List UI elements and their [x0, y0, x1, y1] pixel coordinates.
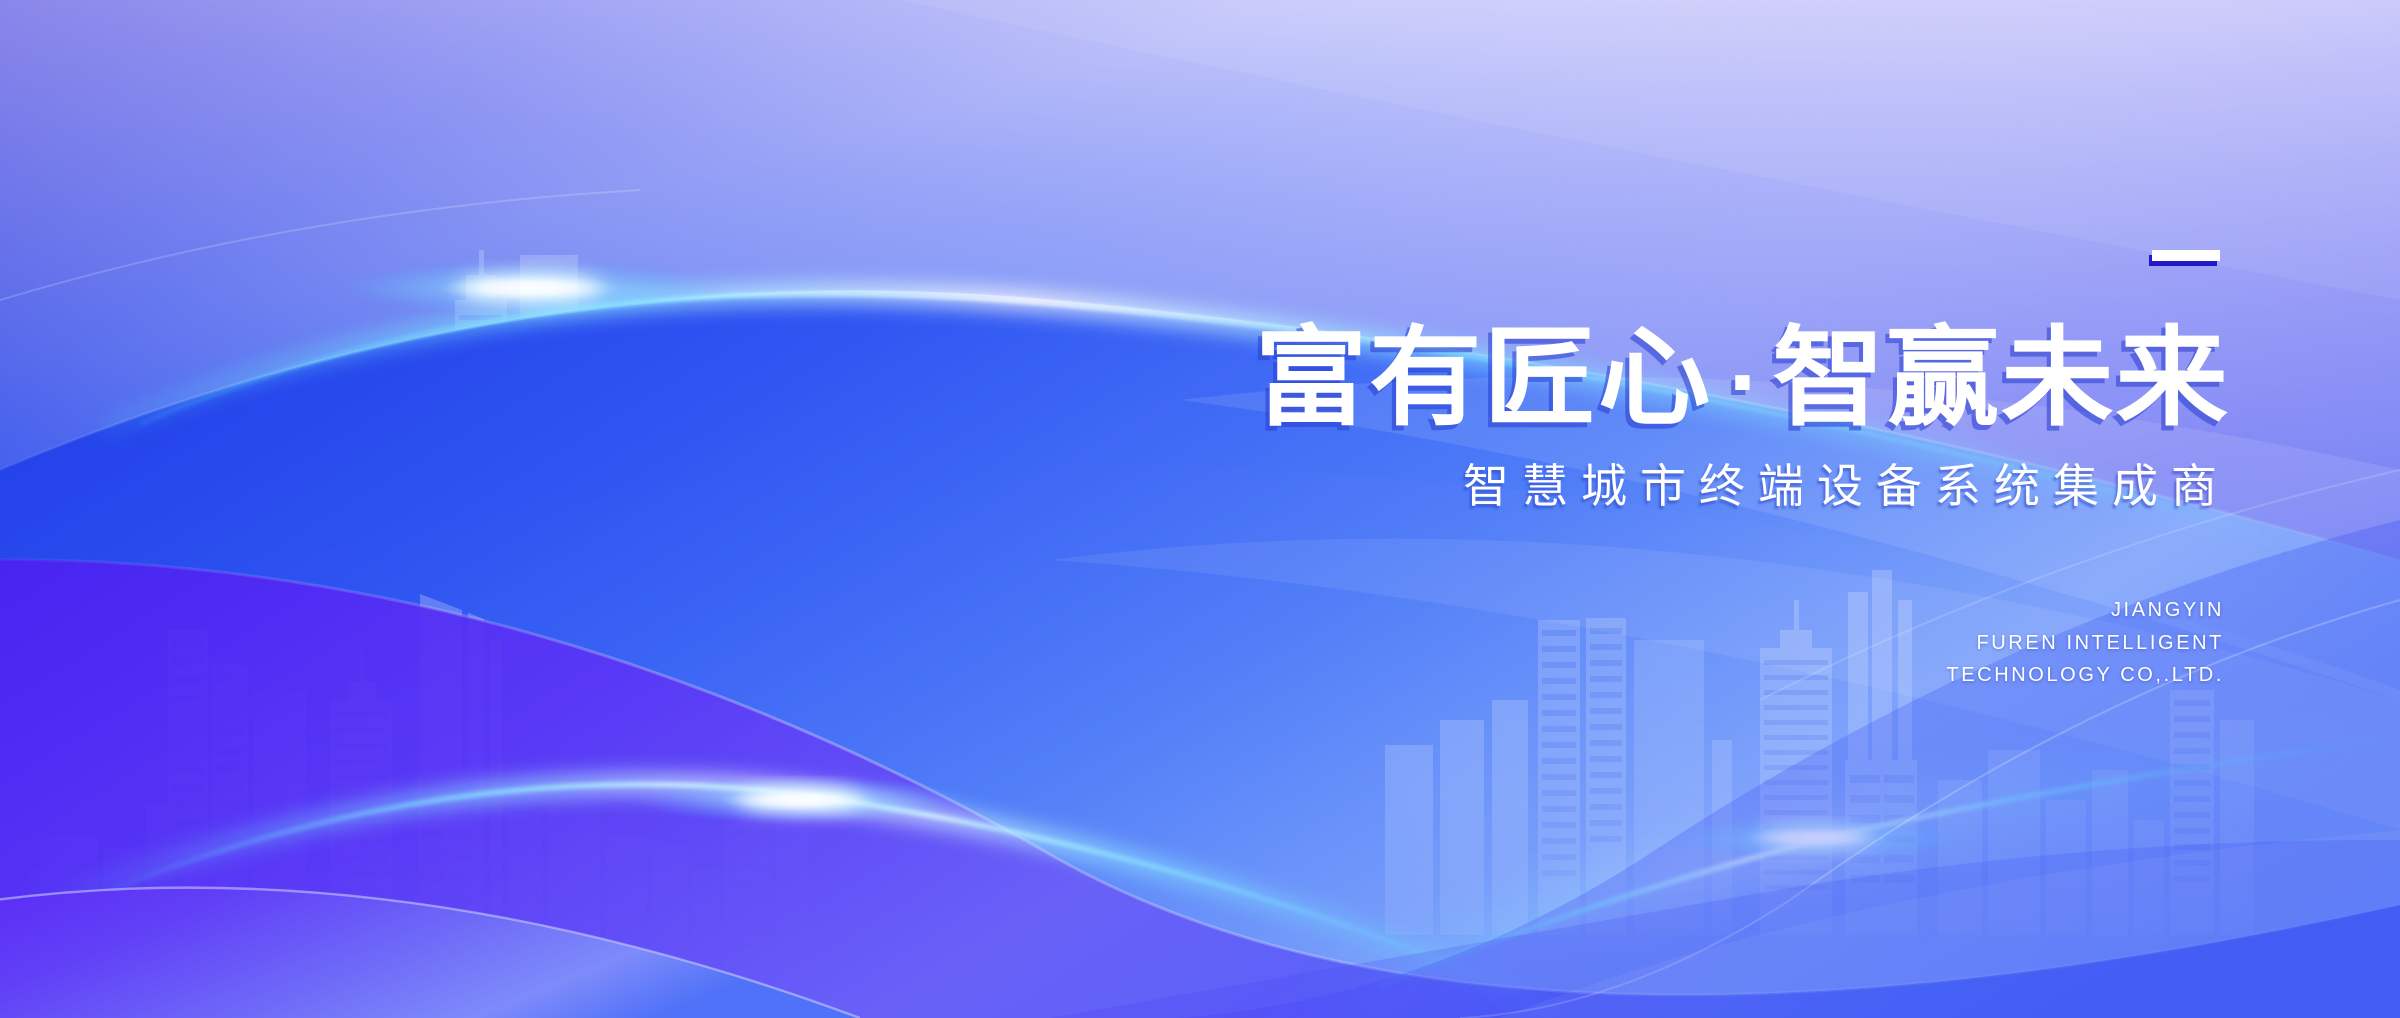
company-line-suffix: TECHNOLOGY CO,.LTD.	[1050, 659, 2224, 691]
headline-group: 富有匠心·智赢未来 智慧城市终端设备系统集成商 JIANGYIN FUREN I…	[1050, 250, 2230, 691]
dash-rule-icon	[2152, 250, 2220, 261]
headline-part-one: 富有匠心	[1255, 316, 1713, 441]
company-line-name: FUREN INTELLIGENT	[1050, 627, 2224, 659]
company-name: JIANGYIN FUREN INTELLIGENT TECHNOLOGY CO…	[1050, 594, 2224, 691]
headline-part-two: 智赢未来	[1772, 316, 2230, 441]
headline-separator-dot: ·	[1712, 339, 1772, 429]
page-title: 富有匠心·智赢未来	[1003, 324, 2230, 434]
company-line-city: JIANGYIN	[1050, 594, 2224, 626]
banner-canvas: 富有匠心·智赢未来 智慧城市终端设备系统集成商 JIANGYIN FUREN I…	[0, 0, 2400, 1018]
page-subtitle: 智慧城市终端设备系统集成商	[1050, 450, 2230, 516]
